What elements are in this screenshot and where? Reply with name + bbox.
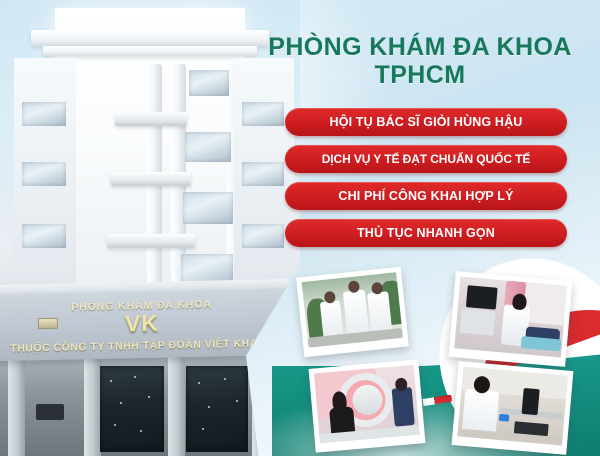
photo-image — [302, 272, 403, 348]
page-title: PHÒNG KHÁM ĐA KHOA TPHCM — [248, 33, 592, 89]
window — [242, 162, 284, 186]
lobby-column — [168, 356, 185, 456]
clinic-promo-banner: PHÒNG KHÁM ĐA KHOA VK THUỘC CÔNG TY TNHH… — [0, 0, 600, 456]
sign-initials: VK — [0, 307, 290, 340]
sign-line-3: THUỘC CÔNG TY TNHH TẬP ĐOÀN VIỆT KHANG — [0, 337, 291, 355]
lobby-column — [84, 356, 101, 456]
lobby-glass-window — [186, 366, 248, 452]
headline-line-2: TPHCM — [248, 61, 592, 89]
collage-photo-doctors[interactable] — [296, 267, 409, 358]
balcony — [107, 234, 195, 248]
photo-image — [454, 276, 567, 357]
window — [242, 102, 284, 126]
headline-line-1: PHÒNG KHÁM ĐA KHOA — [248, 33, 592, 61]
photo-image — [457, 367, 568, 446]
building-signboard: PHÒNG KHÁM ĐA KHOA VK THUỘC CÔNG TY TNHH… — [0, 289, 291, 361]
collage-photo-lab-workstation[interactable] — [452, 361, 574, 455]
wall-vent — [36, 404, 64, 420]
lobby-glass-door — [100, 366, 164, 452]
cornice-lower — [43, 46, 257, 56]
balcony — [115, 112, 187, 126]
collage-photo-ct-scanner[interactable] — [309, 359, 426, 452]
window — [22, 102, 66, 126]
window — [242, 224, 284, 248]
collage-photo-ultrasound[interactable] — [448, 271, 572, 367]
window — [183, 192, 233, 224]
photo-image — [314, 365, 420, 443]
window — [185, 132, 231, 162]
window — [22, 162, 66, 186]
feature-badge-services[interactable]: DỊCH VỤ Y TẾ ĐẠT CHUẨN QUỐC TẾ — [285, 145, 567, 173]
lobby-column — [8, 356, 25, 456]
lobby-column — [252, 356, 269, 456]
balcony — [111, 172, 191, 186]
window — [22, 224, 66, 248]
feature-badge-pricing[interactable]: CHI PHÍ CÔNG KHAI HỢP LÝ — [285, 182, 567, 210]
window — [189, 70, 229, 96]
cornice-upper — [31, 30, 269, 46]
feature-badge-doctors[interactable]: HỘI TỤ BÁC SĨ GIỎI HÙNG HẬU — [285, 108, 567, 136]
feature-badge-list: HỘI TỤ BÁC SĨ GIỎI HÙNG HẬU DỊCH VỤ Y TẾ… — [285, 108, 567, 256]
feature-badge-process[interactable]: THỦ TỤC NHANH GỌN — [285, 219, 567, 247]
